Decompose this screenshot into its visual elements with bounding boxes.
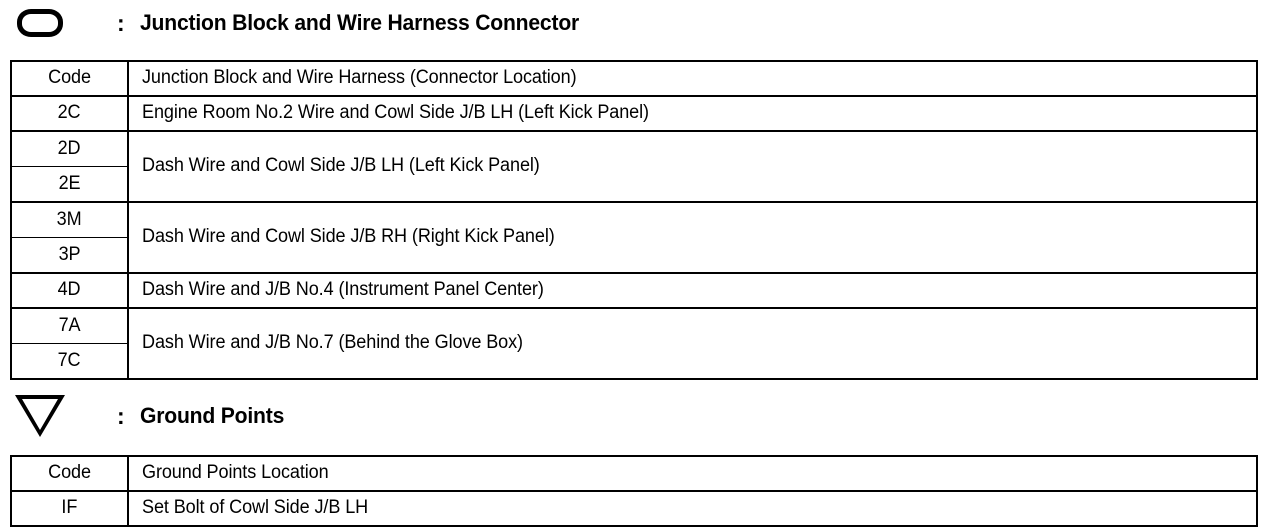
cell-code: 3P bbox=[11, 238, 128, 274]
section-header-connector: : Junction Block and Wire Harness Connec… bbox=[10, 0, 597, 46]
cell-code: 2C bbox=[11, 96, 128, 131]
ground-legend-table: Code Ground Points Location IF Set Bolt … bbox=[10, 455, 1258, 527]
cell-description: Engine Room No.2 Wire and Cowl Side J/B … bbox=[128, 96, 1257, 131]
section-title-connector: Junction Block and Wire Harness Connecto… bbox=[140, 10, 579, 36]
section-header-ground: : Ground Points bbox=[10, 393, 290, 439]
table-header-row: Code Ground Points Location bbox=[11, 456, 1257, 491]
connector-oval-icon bbox=[10, 9, 70, 37]
table-header-row: Code Junction Block and Wire Harness (Co… bbox=[11, 61, 1257, 96]
table-row: 7A Dash Wire and J/B No.7 (Behind the Gl… bbox=[11, 308, 1257, 344]
cell-code: 4D bbox=[11, 273, 128, 308]
header-cell-code: Code bbox=[11, 456, 128, 491]
table-row: 2D Dash Wire and Cowl Side J/B LH (Left … bbox=[11, 131, 1257, 167]
ground-triangle-icon bbox=[10, 395, 70, 437]
header-colon: : bbox=[117, 405, 125, 428]
cell-description: Dash Wire and Cowl Side J/B RH (Right Ki… bbox=[128, 202, 1257, 273]
cell-code: 7A bbox=[11, 308, 128, 344]
cell-code: 2D bbox=[11, 131, 128, 167]
cell-description: Dash Wire and Cowl Side J/B LH (Left Kic… bbox=[128, 131, 1257, 202]
table-row: 4D Dash Wire and J/B No.4 (Instrument Pa… bbox=[11, 273, 1257, 308]
cell-code: 3M bbox=[11, 202, 128, 238]
cell-code: 7C bbox=[11, 344, 128, 380]
legend-page: : Junction Block and Wire Harness Connec… bbox=[0, 0, 1280, 528]
table-row: 3M Dash Wire and Cowl Side J/B RH (Right… bbox=[11, 202, 1257, 238]
cell-description: Dash Wire and J/B No.7 (Behind the Glove… bbox=[128, 308, 1257, 379]
cell-code: 2E bbox=[11, 167, 128, 203]
cell-description: Dash Wire and J/B No.4 (Instrument Panel… bbox=[128, 273, 1257, 308]
header-cell-description: Ground Points Location bbox=[128, 456, 1257, 491]
cell-description: Set Bolt of Cowl Side J/B LH bbox=[128, 491, 1257, 526]
cell-code: IF bbox=[11, 491, 128, 526]
table-row: IF Set Bolt of Cowl Side J/B LH bbox=[11, 491, 1257, 526]
section-title-ground: Ground Points bbox=[140, 403, 284, 429]
header-colon: : bbox=[117, 12, 125, 35]
table-row: 2C Engine Room No.2 Wire and Cowl Side J… bbox=[11, 96, 1257, 131]
connector-legend-table: Code Junction Block and Wire Harness (Co… bbox=[10, 60, 1258, 380]
header-cell-description: Junction Block and Wire Harness (Connect… bbox=[128, 61, 1257, 96]
header-cell-code: Code bbox=[11, 61, 128, 96]
